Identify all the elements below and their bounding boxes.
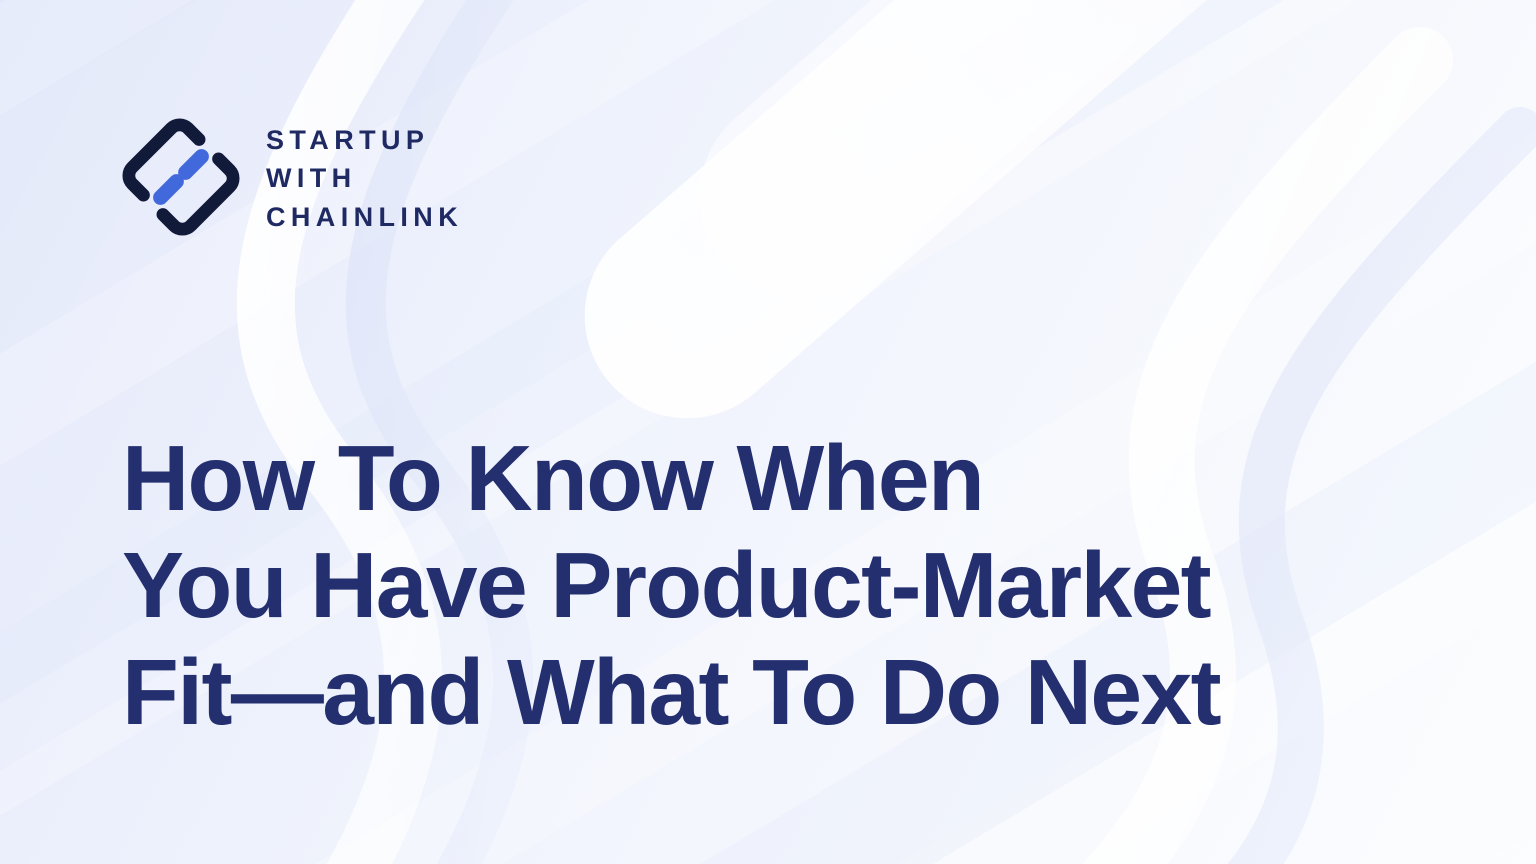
headline-line-2: You Have Product-Market [122,532,1422,639]
wordmark-line-1: STARTUP [266,123,463,158]
headline-line-3: Fit—and What To Do Next [122,639,1422,746]
headline-line-1: How To Know When [122,425,1422,532]
wordmark-line-3: CHAINLINK [266,200,463,235]
wordmark-line-2: WITH [266,161,463,196]
brand-lockup: STARTUP WITH CHAINLINK [122,118,463,236]
startup-with-chainlink-logo-icon [122,118,240,236]
page-title: How To Know When You Have Product-Market… [122,425,1422,746]
title-slide: STARTUP WITH CHAINLINK How To Know When … [0,0,1536,864]
wordmark: STARTUP WITH CHAINLINK [266,120,463,235]
